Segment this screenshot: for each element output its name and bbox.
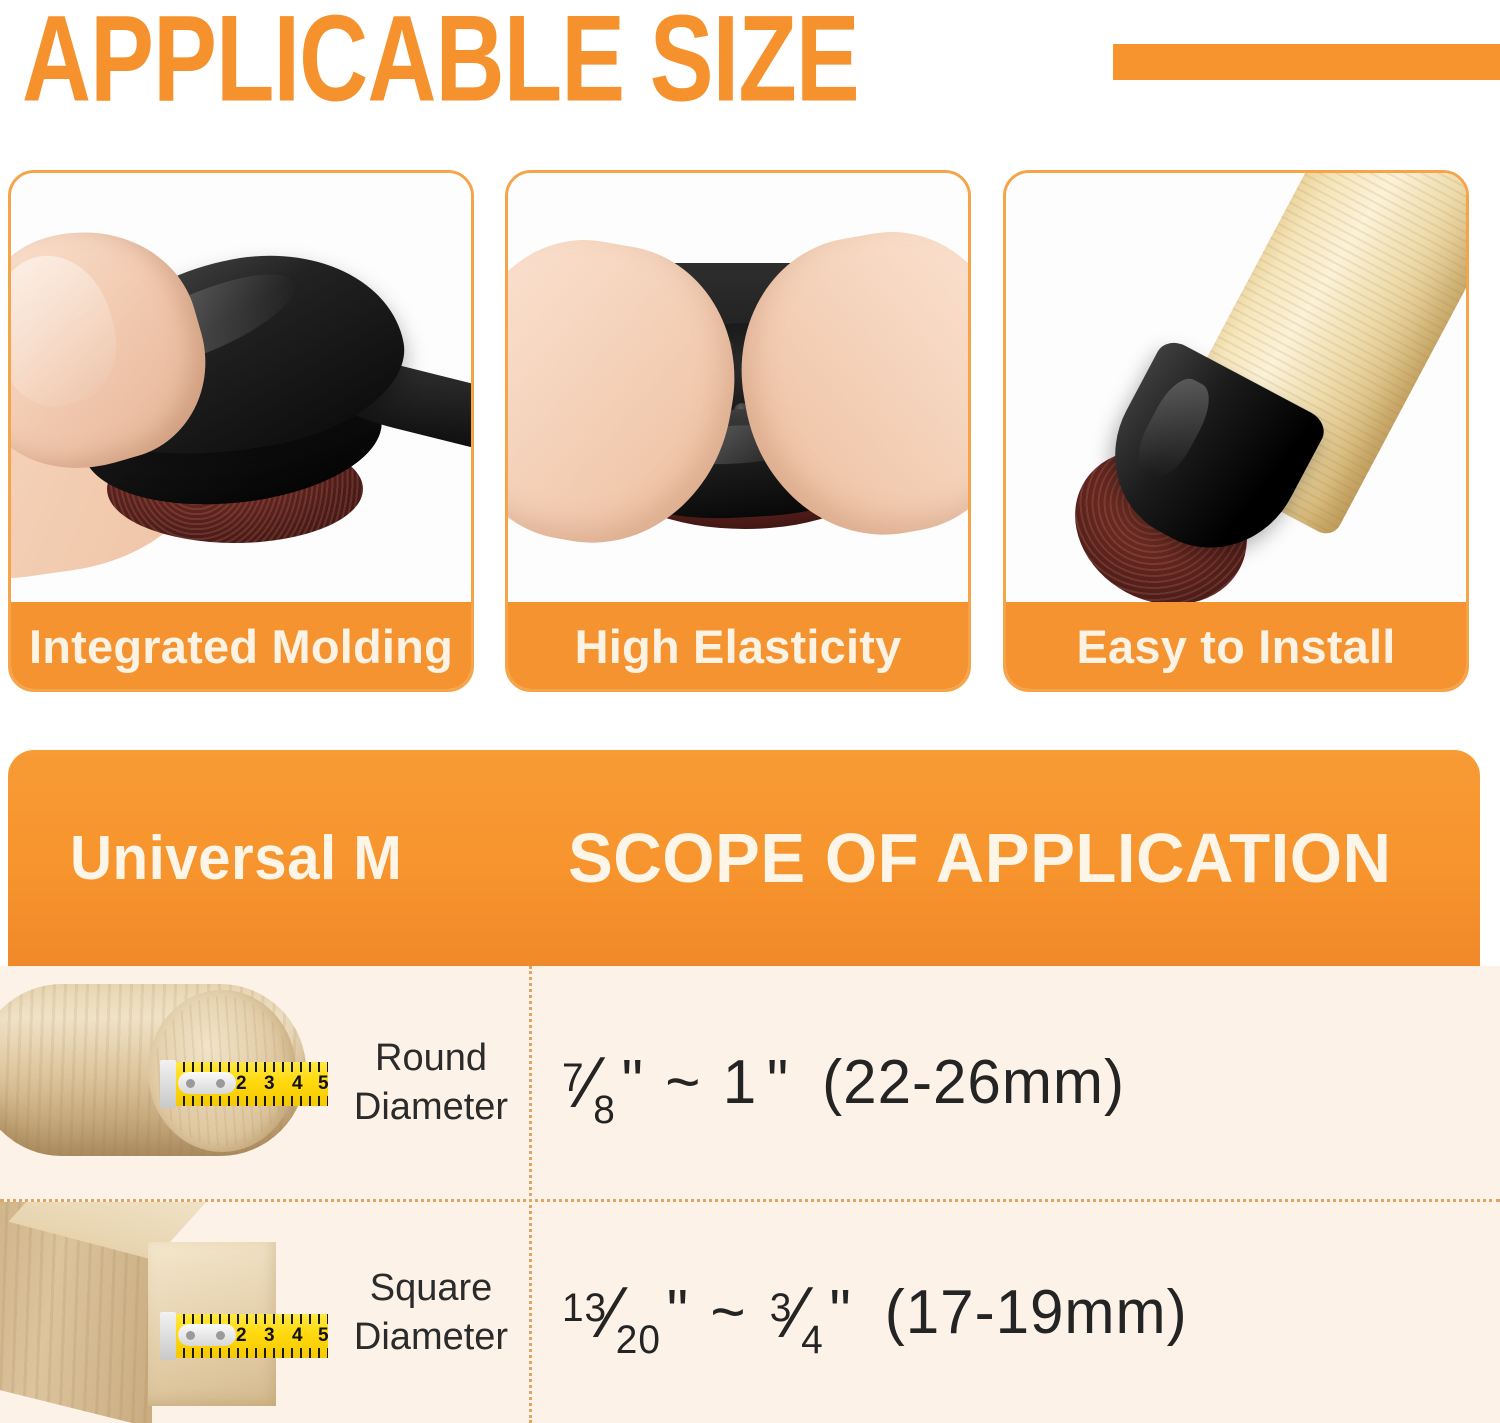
row-label-line1: Round [375, 1034, 487, 1083]
page-title: APPLICABLE SIZE [22, 0, 859, 121]
square-leg-illustration: 2 3 4 5 [0, 1202, 330, 1423]
row-value-square: 13⁄20"~3⁄4"(17-19mm) [560, 1202, 1433, 1423]
tape-mark: 3 [264, 1325, 275, 1347]
range-symbol: ~ [710, 1277, 746, 1348]
tape-hook [160, 1312, 176, 1360]
row-label-square-diameter: Square Diameter [336, 1202, 526, 1423]
fraction-denominator: 20 [616, 1318, 661, 1362]
max-fraction: 3⁄4 [770, 1272, 828, 1354]
fraction-numerator: 3 [770, 1286, 793, 1330]
tape-ticks-bottom [174, 1348, 328, 1358]
tape-hook [160, 1060, 176, 1108]
tape-mark: 5 [318, 1073, 329, 1095]
tape-mark: 3 [264, 1073, 275, 1095]
row-label-line2: Diameter [354, 1313, 508, 1362]
tape-mark: 4 [292, 1325, 303, 1347]
tape-measure: 2 3 4 5 [152, 1062, 328, 1106]
feature-card-row: Integrated Molding High Elasticity [0, 170, 1500, 698]
feature-caption: High Elasticity [507, 602, 969, 690]
size-table: 2 3 4 5 Round Diameter 7⁄8"~1"(22-26mm) [0, 966, 1500, 1423]
max-unit: " [767, 1047, 789, 1118]
min-fraction: 13⁄20 [562, 1272, 665, 1354]
title-accent-bar [1113, 44, 1500, 80]
range-symbol: ~ [665, 1047, 701, 1118]
table-row: 2 3 4 5 Round Diameter 7⁄8"~1"(22-26mm) [0, 966, 1500, 1199]
row-label-round-diameter: Round Diameter [336, 966, 526, 1199]
scope-title: SCOPE OF APPLICATION [568, 750, 1415, 966]
min-unit: " [622, 1047, 644, 1118]
max-unit: " [829, 1277, 851, 1348]
feature-caption: Integrated Molding [10, 602, 472, 690]
metric-value: (17-19mm) [885, 1277, 1188, 1348]
row-label-line1: Square [370, 1264, 493, 1313]
row-value-round: 7⁄8"~1"(22-26mm) [560, 966, 1433, 1199]
row-label-line2: Diameter [354, 1083, 508, 1132]
tape-mark: 2 [236, 1073, 247, 1095]
min-unit: " [667, 1277, 689, 1348]
tape-measure: 2 3 4 5 [152, 1314, 328, 1358]
size-label: Universal M [70, 750, 512, 966]
max-whole: 1 [723, 1047, 757, 1118]
metric-value: (22-26mm) [822, 1047, 1125, 1118]
tape-rivet-plate [178, 1324, 236, 1346]
tape-mark: 4 [292, 1073, 303, 1095]
min-fraction: 7⁄8 [562, 1042, 620, 1124]
page-header: APPLICABLE SIZE [0, 0, 1500, 150]
round-leg-illustration: 2 3 4 5 [0, 966, 330, 1199]
feature-photo-high-elasticity [508, 173, 968, 610]
tape-rivet-plate [178, 1072, 236, 1094]
scope-header-bar: Universal M SCOPE OF APPLICATION [8, 750, 1480, 966]
table-row: 2 3 4 5 Square Diameter 13⁄20"~3⁄4"(17-1… [0, 1202, 1500, 1423]
fraction-denominator: 4 [801, 1318, 824, 1362]
feature-photo-easy-to-install [1006, 173, 1466, 610]
fraction-numerator: 7 [562, 1056, 585, 1100]
tape-mark: 2 [236, 1325, 247, 1347]
fraction-denominator: 8 [593, 1088, 616, 1132]
tape-ticks-bottom [174, 1096, 328, 1106]
feature-photo-integrated-molding [11, 173, 471, 610]
tape-mark: 5 [318, 1325, 329, 1347]
fraction-numerator: 13 [562, 1286, 607, 1330]
feature-card-integrated-molding[interactable]: Integrated Molding [8, 170, 474, 692]
feature-card-easy-to-install[interactable]: Easy to Install [1003, 170, 1469, 692]
feature-caption: Easy to Install [1005, 602, 1467, 690]
feature-card-high-elasticity[interactable]: High Elasticity [505, 170, 971, 692]
